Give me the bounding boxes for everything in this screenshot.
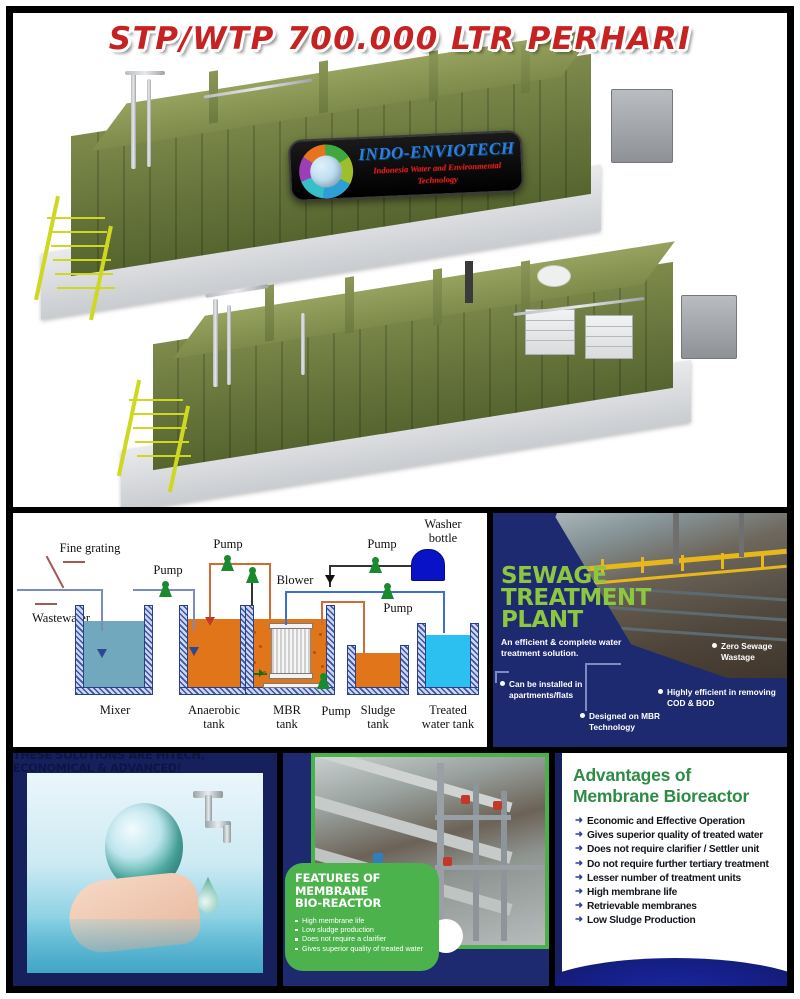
label-treated-line1: Treated xyxy=(411,703,485,717)
mixer-inflow-arrow xyxy=(97,649,107,658)
advantages-list: Economic and Effective Operation Gives s… xyxy=(575,815,787,929)
pump-icon-5 xyxy=(317,673,330,689)
pump-icon-4 xyxy=(381,583,394,599)
water-globe-photo xyxy=(27,773,263,973)
features-item: Does not require a clarifier xyxy=(295,934,430,943)
unit-bottom-riser-pipe xyxy=(213,299,218,387)
stp-title-line3: PLANT xyxy=(501,609,651,631)
pump-icon-1 xyxy=(159,581,172,597)
advantages-item: Low Sludge Production xyxy=(575,914,787,928)
poster-inner-border: STP/WTP 700.000 LTR PERHARI xyxy=(6,6,794,993)
washer-flow-arrow xyxy=(325,575,335,584)
advantages-item: High membrane life xyxy=(575,886,787,900)
features-title: FEATURES OF MEMBRANE BIO-REACTOR xyxy=(295,872,430,910)
inflow-line xyxy=(17,589,67,591)
unit-top-partition-2 xyxy=(319,60,328,113)
stp-title-line1: SEWAGE xyxy=(501,565,651,587)
fine-grating-bottom xyxy=(35,603,57,605)
advantages-item: Lesser number of treatment units xyxy=(575,872,787,886)
label-sludge-line2: tank xyxy=(347,717,409,731)
label-mbr-line2: tank xyxy=(259,717,315,731)
features-list: High membrane life Low sludge production… xyxy=(295,916,430,954)
exhaust-stack xyxy=(465,261,473,303)
label-washer-bottle-line2: bottle xyxy=(407,531,479,545)
stp-bullet-4-text: Zero Sewage Wastage xyxy=(721,641,772,662)
mbr-module-bottom xyxy=(269,673,313,679)
control-unit-top xyxy=(611,89,673,163)
globe-cycle-icon xyxy=(298,143,354,199)
unit-bottom-partition-1 xyxy=(265,284,274,341)
label-anaerobic-line2: tank xyxy=(171,717,257,731)
page-title: STP/WTP 700.000 LTR PERHARI xyxy=(13,21,787,57)
features-panel: FEATURES OF MEMBRANE BIO-REACTOR High me… xyxy=(283,753,549,986)
advantages-item: Retrievable membranes xyxy=(575,900,787,914)
advantages-title-line2: Membrane Bioreactor xyxy=(573,786,783,807)
stp-bullet-1: Can be installed in apartments/flats xyxy=(509,679,609,700)
tank-mixer xyxy=(75,605,153,695)
washer-bottle xyxy=(411,549,445,581)
stp-bullet-3: Highly efficient in removing COD & BOD xyxy=(667,687,779,708)
blower-icon xyxy=(246,567,259,583)
advantages-bottom-arc xyxy=(555,958,787,986)
features-item: Gives superior quality of treated water xyxy=(295,944,430,953)
unit-top-partition-3 xyxy=(429,50,438,101)
tank-sludge xyxy=(347,645,409,695)
blower-drum xyxy=(537,265,571,287)
control-unit-bottom xyxy=(681,295,737,359)
features-item: High membrane life xyxy=(295,916,430,925)
pump-icon-3 xyxy=(369,557,382,573)
label-washer-bottle-line1: Washer xyxy=(407,517,479,531)
label-mbr-line1: MBR xyxy=(259,703,315,717)
label-pump-2: Pump xyxy=(203,537,253,551)
stairs-bottom xyxy=(123,385,199,487)
advantages-panel: Advantages of Membrane Bioreactor Econom… xyxy=(555,753,787,986)
label-treated-line2: water tank xyxy=(409,717,487,731)
features-item: Low sludge production xyxy=(295,925,430,934)
stp-subtitle: An efficient & complete water treatment … xyxy=(501,637,661,659)
label-mixer: Mixer xyxy=(79,703,151,717)
poster-frame: STP/WTP 700.000 LTR PERHARI xyxy=(0,0,800,999)
stp-title-line2: TREATMENT xyxy=(501,587,651,609)
label-fine-grating: Fine grating xyxy=(35,541,145,555)
advantages-item: Economic and Effective Operation xyxy=(575,815,787,829)
label-anaerobic-line1: Anaerobic xyxy=(171,703,257,717)
label-sludge-line1: Sludge xyxy=(347,703,409,717)
advantages-title-line1: Advantages of xyxy=(573,765,783,786)
features-card: FEATURES OF MEMBRANE BIO-REACTOR High me… xyxy=(285,863,439,971)
stp-bullet-4: Zero Sewage Wastage xyxy=(721,641,787,662)
mbr-membrane-fibers xyxy=(271,629,311,673)
unit-bottom-partition-3 xyxy=(433,268,442,325)
pump-icon-2 xyxy=(221,555,234,571)
solutions-panel: THESE SOLUTIONS ARE HITECH, ECONOMICAL &… xyxy=(13,753,277,986)
unit-bottom-partition-2 xyxy=(345,276,354,333)
ibc-tank-1 xyxy=(525,309,575,355)
solutions-headline: THESE SOLUTIONS ARE HITECH, ECONOMICAL &… xyxy=(13,753,277,775)
sewage-treatment-plant-panel: SEWAGE TREATMENT PLANT An efficient & co… xyxy=(493,513,787,747)
unit-bottom-riser-pipe-3 xyxy=(301,313,305,375)
advantages-item: Gives superior quality of treated water xyxy=(575,829,787,843)
stp-bullet-1-text: Can be installed in apartments/flats xyxy=(509,679,582,700)
label-pump-1: Pump xyxy=(143,563,193,577)
mbr-aerator xyxy=(263,683,321,688)
anaerobic-inflow-arrow xyxy=(189,647,199,656)
advantages-side-strip xyxy=(555,753,562,986)
hero-panel: STP/WTP 700.000 LTR PERHARI xyxy=(13,13,787,507)
label-pump-4: Pump xyxy=(373,601,423,615)
anaerobic-recirc-arrow xyxy=(205,617,215,626)
advantages-item: Does not require clarifier / Settler uni… xyxy=(575,843,787,857)
stp-bullet-2: Designed on MBR Technology xyxy=(589,711,685,732)
bottom-row: THESE SOLUTIONS ARE HITECH, ECONOMICAL &… xyxy=(13,747,787,986)
process-flow-diagram: Fine grating Wastewater Pump Pump Blower… xyxy=(13,513,487,747)
faucet-icon xyxy=(179,791,231,849)
unit-top-crossover-pipe xyxy=(125,71,165,75)
stp-bullet-3-text: Highly efficient in removing COD & BOD xyxy=(667,687,776,708)
stp-title: SEWAGE TREATMENT PLANT xyxy=(501,565,651,631)
company-logo-badge: INDO-ENVIOTECH Indonesia Water and Envir… xyxy=(288,130,524,202)
solutions-headline-bar: THESE SOLUTIONS ARE HITECH, ECONOMICAL &… xyxy=(13,753,277,771)
unit-top-riser-pipe-2 xyxy=(147,79,151,167)
page-title-text: STP/WTP 700.000 LTR PERHARI xyxy=(109,21,691,57)
stairs-top xyxy=(41,203,121,313)
fine-grating-bar xyxy=(46,556,65,589)
middle-row: Fine grating Wastewater Pump Pump Blower… xyxy=(13,507,787,747)
unit-bottom-riser-pipe-2 xyxy=(227,305,231,385)
advantages-title: Advantages of Membrane Bioreactor xyxy=(573,765,783,807)
ibc-tank-2 xyxy=(585,315,633,359)
unit-bottom-partition-4 xyxy=(521,260,530,315)
label-blower: Blower xyxy=(267,573,323,587)
unit-top-riser-pipe xyxy=(131,73,136,169)
label-pump-3: Pump xyxy=(357,537,407,551)
advantages-item: Do not require further tertiary treatmen… xyxy=(575,858,787,872)
fine-grating-top xyxy=(63,561,85,563)
tank-treated-water xyxy=(417,623,479,695)
stp-bullet-2-text: Designed on MBR Technology xyxy=(589,711,660,732)
features-title-line3: BIO-REACTOR xyxy=(295,896,381,910)
